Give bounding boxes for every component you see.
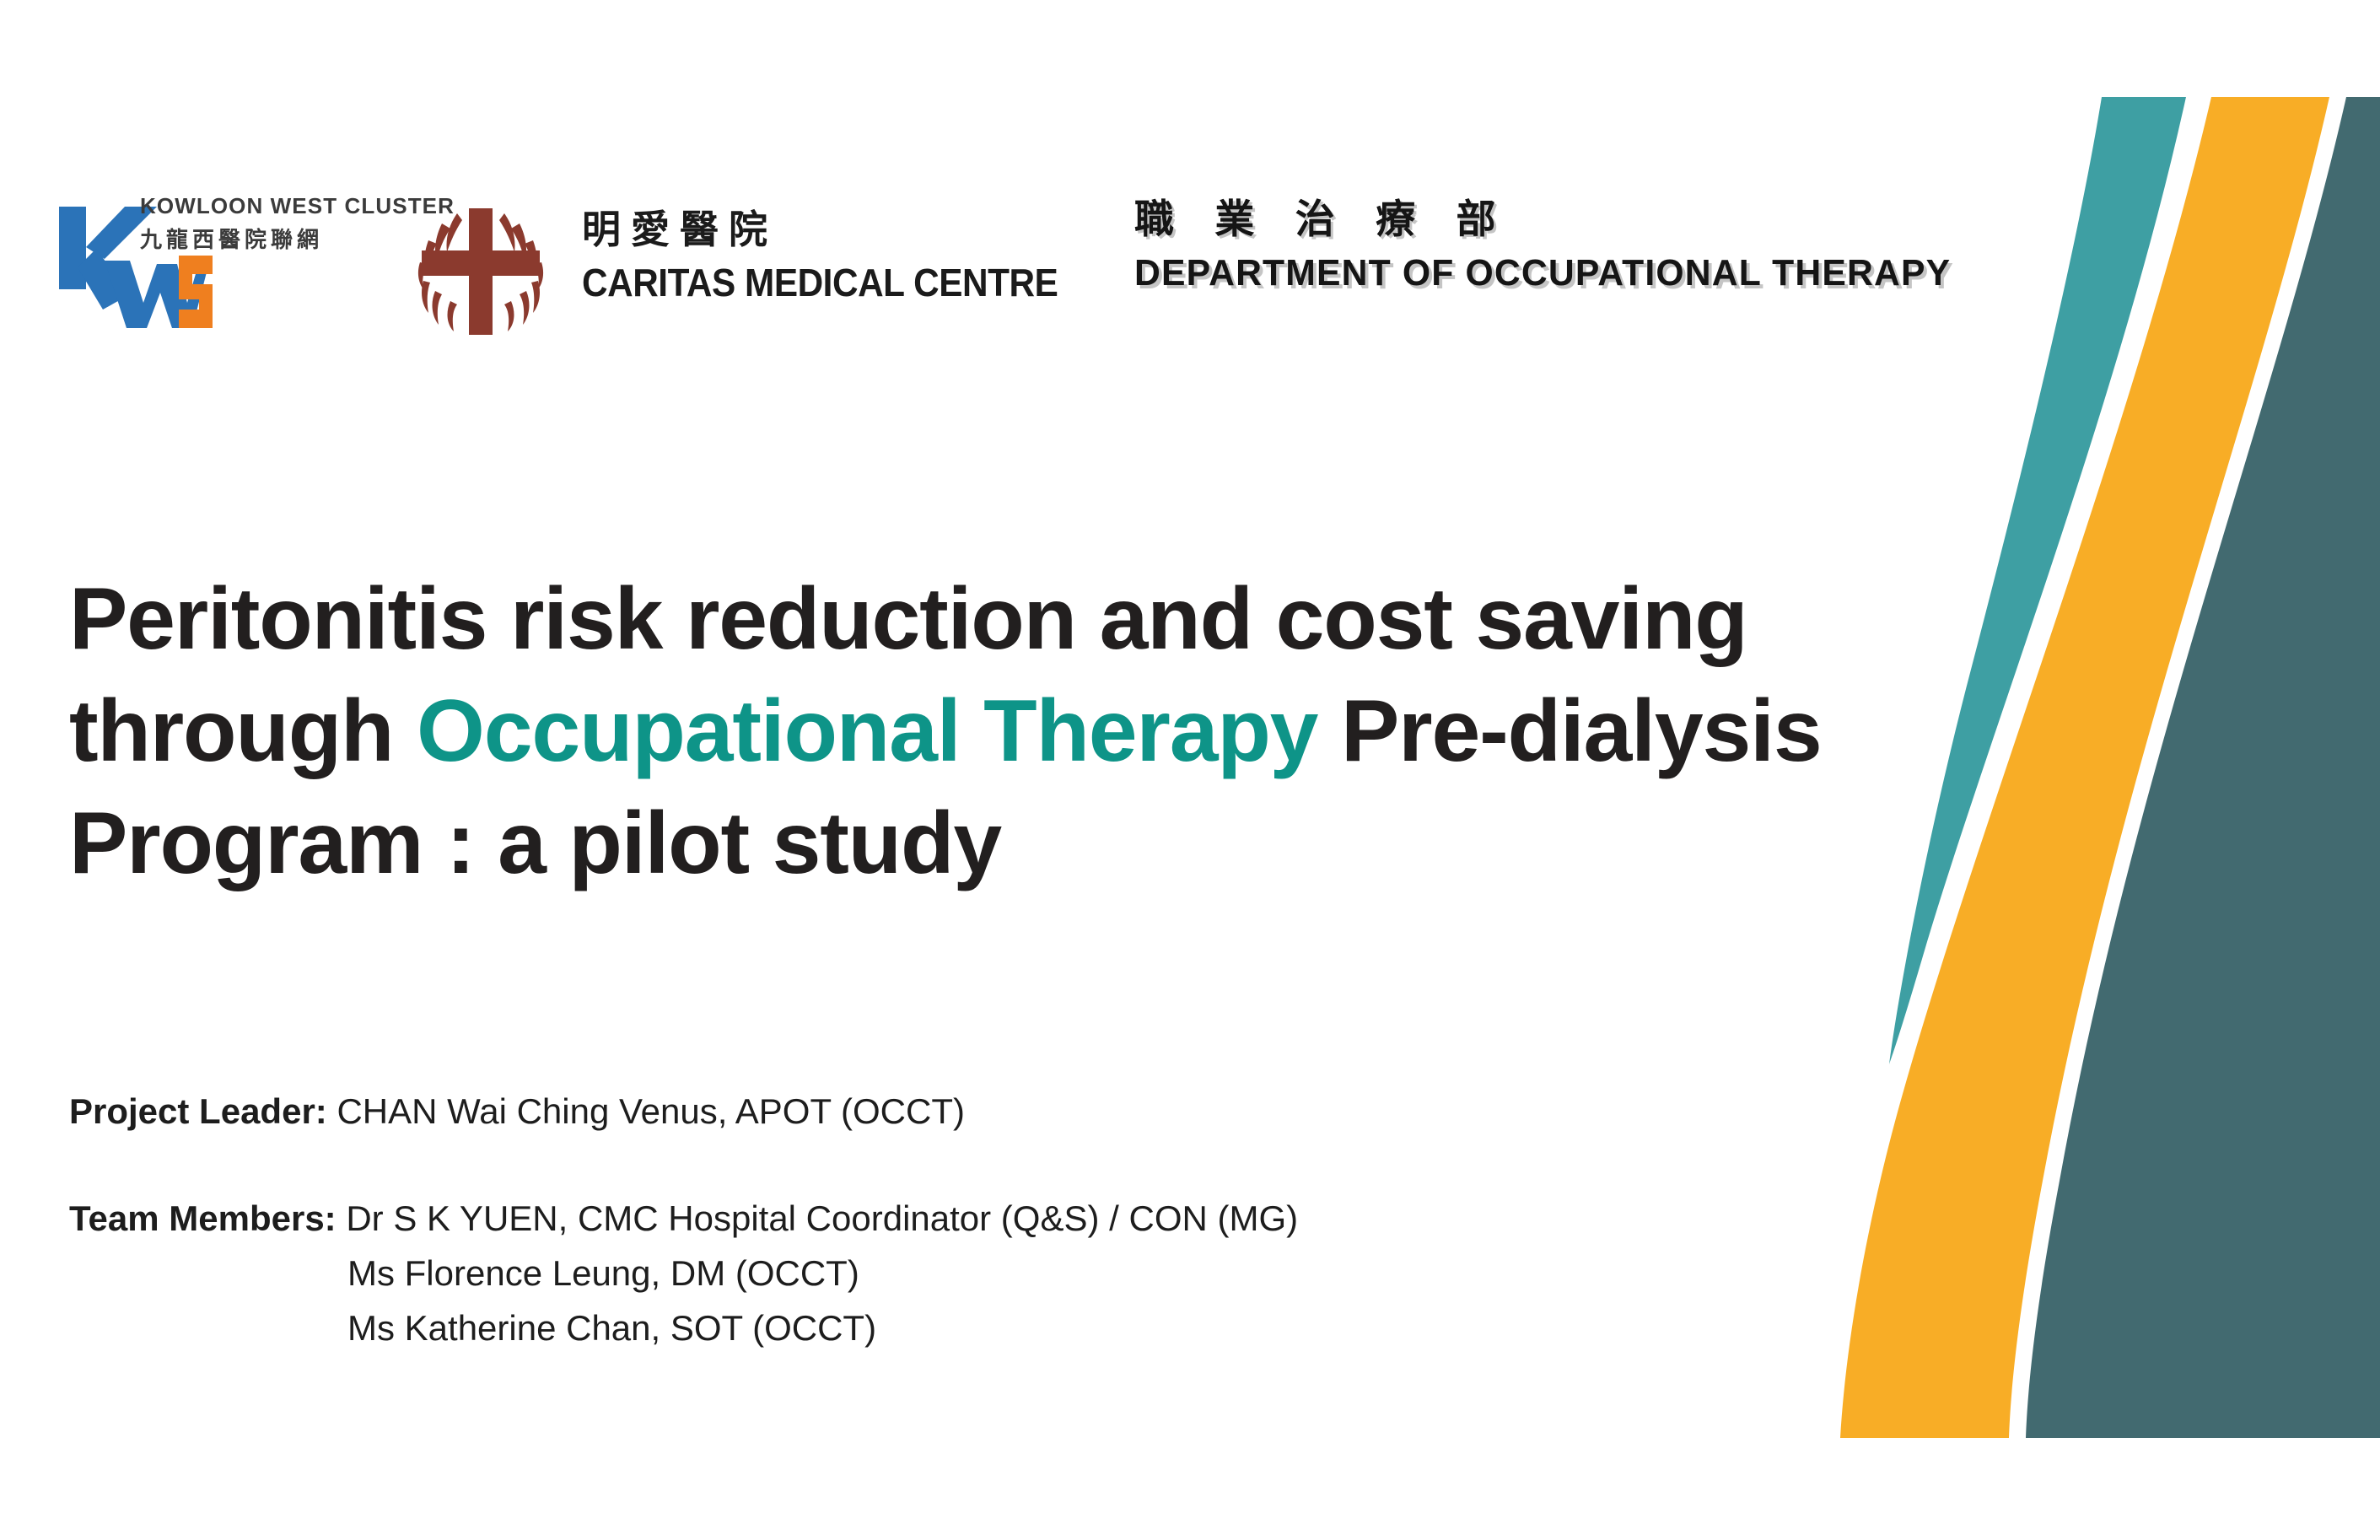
project-leader-value: CHAN Wai Ching Venus, APOT (OCCT) xyxy=(327,1091,965,1131)
project-leader-label: Project Leader: xyxy=(69,1091,327,1131)
caritas-cross-sunburst-icon xyxy=(413,203,548,338)
caritas-medical-centre-logo: 明愛醫院 CARITAS MEDICAL CENTRE xyxy=(413,197,1020,344)
team-members-line-1: Team Members: Dr S K YUEN, CMC Hospital … xyxy=(69,1191,1756,1246)
header-logo-strip: KOWLOON WEST CLUSTER 九龍西醫院聯網 xyxy=(0,190,2193,350)
title-line-1: Peritonitis risk reduction and cost savi… xyxy=(69,563,2060,676)
project-leader-line: Project Leader: CHAN Wai Ching Venus, AP… xyxy=(69,1084,1756,1139)
slide-title: Peritonitis risk reduction and cost savi… xyxy=(69,563,2060,900)
team-members-group: Team Members: Dr S K YUEN, CMC Hospital … xyxy=(69,1191,1756,1355)
caritas-english-name: CARITAS MEDICAL CENTRE xyxy=(582,260,1058,305)
team-members-value-1: Dr S K YUEN, CMC Hospital Coordinator (Q… xyxy=(337,1198,1298,1238)
title-line-3: Program : a pilot study xyxy=(69,788,2060,900)
title-line-2: through Occupational Therapy Pre-dialysi… xyxy=(69,676,2060,788)
team-members-label: Team Members: xyxy=(69,1198,337,1238)
kowloon-west-cluster-logo: KOWLOON WEST CLUSTER 九龍西醫院聯網 xyxy=(52,190,390,342)
credits-block: Project Leader: CHAN Wai Ching Venus, AP… xyxy=(69,1084,1756,1355)
title-accent-occupational-therapy: Occupational Therapy xyxy=(417,682,1317,780)
ot-english-name: DEPARTMENT OF OCCUPATIONAL THERAPY xyxy=(1134,252,2100,294)
kwc-english-name: KOWLOON WEST CLUSTER xyxy=(140,195,455,218)
kwc-chinese-name: 九龍西醫院聯網 xyxy=(140,223,455,254)
team-members-line-2: Ms Florence Leung, DM (OCCT) xyxy=(69,1246,1756,1300)
caritas-chinese-name: 明愛醫院 xyxy=(582,208,1099,251)
ot-chinese-name: 職 業 治 療 部 xyxy=(1134,198,2130,242)
team-members-line-3: Ms Katherine Chan, SOT (OCCT) xyxy=(69,1300,1756,1355)
title-line-2-post: Pre-dialysis xyxy=(1317,682,1821,780)
title-line-2-pre: through xyxy=(69,682,417,780)
department-of-occupational-therapy-logo: 職 業 治 療 部 DEPARTMENT OF OCCUPATIONAL THE… xyxy=(1134,198,2130,342)
